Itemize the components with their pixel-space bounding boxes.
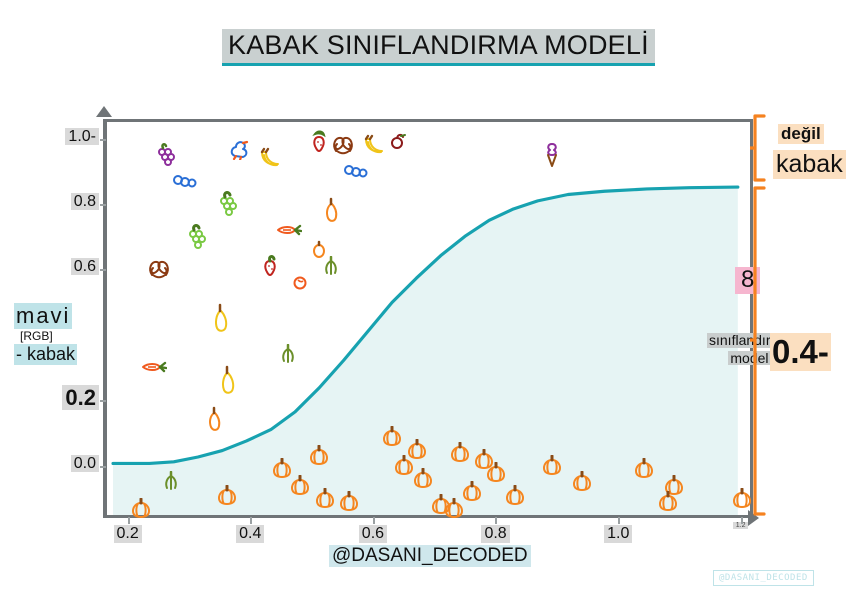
data-point-pumpkin-icon — [657, 491, 679, 515]
bracket-bottom-icon — [750, 188, 764, 514]
data-point-pumpkin-icon — [541, 455, 563, 479]
x-tick-label: 0.4 — [236, 525, 264, 543]
x-tick-label: 0.8 — [481, 525, 509, 543]
data-point-pumpkin-icon — [461, 481, 483, 505]
data-point-pretzel-icon — [330, 133, 356, 161]
data-point-pumpkin-icon — [381, 426, 403, 450]
data-point-carrot-orange-icon — [139, 359, 167, 379]
data-point-blueberries-icon — [342, 164, 368, 182]
y-axis-label-line2: [RGB] — [20, 329, 100, 343]
data-point-pumpkin-icon — [504, 485, 526, 509]
classification-curve-svg — [107, 122, 750, 515]
bracket-top-icon — [750, 116, 764, 180]
data-point-squash-green-icon — [161, 471, 181, 495]
y-axis-arrow-icon — [96, 106, 112, 117]
y-axis-label-line3: - kabak — [14, 344, 77, 365]
data-point-ice-cream-icon — [543, 140, 561, 172]
y-tick-mark — [100, 139, 106, 141]
page-title: KABAK SINIFLANDIRMA MODELİ — [222, 29, 655, 66]
data-point-pumpkin-icon — [571, 471, 593, 495]
y-tick-label: 0.0 — [0, 455, 102, 473]
figure-canvas: KABAK SINIFLANDIRMA MODELİ sınıflandırma… — [0, 0, 849, 600]
data-point-strawberry-red-icon — [260, 253, 280, 283]
y-axis-label: mavi [RGB] - kabak — [14, 303, 100, 365]
data-point-carrot-orange-icon — [274, 222, 302, 242]
data-point-pumpkin-icon — [314, 488, 336, 512]
plot-area: sınıflandırma model 8 — [103, 119, 753, 518]
data-point-squash-yellow-icon — [211, 303, 229, 337]
x-tick-mark — [128, 517, 130, 524]
y-axis-label-line1: mavi — [14, 303, 72, 329]
data-point-tomato-icon — [291, 274, 309, 294]
x-tick-label: 1.0 — [604, 525, 632, 543]
data-point-duck-icon — [227, 136, 251, 164]
label-degil: değil — [778, 124, 824, 144]
data-point-grapes-green-icon — [184, 222, 208, 254]
data-point-pumpkin-icon — [449, 442, 471, 466]
data-point-squash-orange-icon — [323, 197, 339, 227]
data-point-pumpkin-icon — [633, 458, 655, 482]
x-tick-mark — [495, 517, 497, 524]
x-tick-label: 0.6 — [359, 525, 387, 543]
watermark: @DASANI_DECODED — [713, 570, 814, 586]
data-point-pumpkin-icon — [289, 475, 311, 499]
data-point-cherries-icon — [388, 132, 408, 154]
data-point-strawberry-green-icon — [309, 128, 329, 158]
data-point-squash-green-icon — [278, 344, 298, 368]
y-tick-mark — [100, 400, 106, 402]
y-tick-label: 1.0- — [0, 128, 102, 146]
data-point-grapes-green-icon — [215, 189, 239, 221]
data-point-pumpkin-icon — [216, 485, 238, 509]
label-threshold-value: 0.4- — [770, 333, 831, 371]
y-tick-mark — [100, 466, 106, 468]
y-tick-label: 0.6 — [0, 258, 102, 276]
data-point-blueberries-icon — [171, 174, 197, 192]
x-tick-mark — [373, 517, 375, 524]
data-point-pumpkin-icon — [130, 498, 152, 522]
y-tick-mark — [100, 204, 106, 206]
data-point-grapes-purple-icon — [153, 141, 177, 171]
data-point-squash-green-icon — [321, 256, 341, 280]
data-point-banana-icon — [361, 134, 387, 160]
data-point-pumpkin-icon — [308, 445, 330, 469]
data-point-pumpkin-icon — [412, 468, 434, 492]
data-point-pretzel-icon — [146, 257, 172, 285]
data-point-pumpkin-icon — [338, 491, 360, 515]
data-point-squash-orange-icon — [206, 406, 222, 436]
x-tick-mark — [618, 517, 620, 524]
y-tick-label: 0.2 — [0, 385, 102, 411]
data-point-banana-icon — [257, 147, 283, 173]
data-point-pumpkin-icon — [485, 462, 507, 486]
label-kabak: kabak — [773, 150, 846, 179]
x-tick-mark — [250, 517, 252, 524]
data-point-squash-yellow-icon — [218, 365, 236, 399]
x-tick-label: 0.2 — [114, 525, 142, 543]
y-tick-mark — [100, 269, 106, 271]
y-tick-label: 0.8 — [0, 193, 102, 211]
x-tick-mark — [741, 517, 743, 524]
data-point-pumpkin-icon — [406, 439, 428, 463]
x-axis-label: @DASANI_DECODED — [329, 545, 531, 567]
